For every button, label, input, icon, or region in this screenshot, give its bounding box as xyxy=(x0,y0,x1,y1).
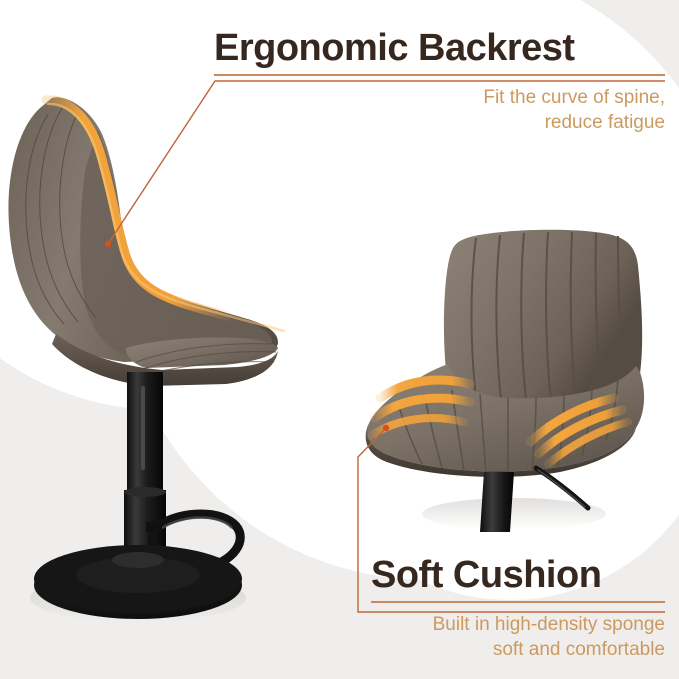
callout-title-backrest: Ergonomic Backrest xyxy=(214,29,665,67)
callout-subtitle-cushion-line2: soft and comfortable xyxy=(371,637,665,662)
callout-rule-backrest xyxy=(214,74,665,76)
callout-subtitle-backrest: Fit the curve of spine, reduce fatigue xyxy=(214,85,665,135)
product-feature-graphic: Ergonomic Backrest Fit the curve of spin… xyxy=(0,0,679,679)
callout-subtitle-cushion-line1: Built in high-density sponge xyxy=(371,612,665,637)
callout-ergonomic-backrest: Ergonomic Backrest Fit the curve of spin… xyxy=(214,29,665,135)
callout-soft-cushion: Soft Cushion Built in high-density spong… xyxy=(371,556,665,662)
leader-anchor-backrest xyxy=(105,241,111,247)
callout-rule-cushion xyxy=(371,601,665,603)
callout-subtitle-cushion: Built in high-density sponge soft and co… xyxy=(371,612,665,662)
callout-subtitle-backrest-line1: Fit the curve of spine, xyxy=(214,85,665,110)
callout-subtitle-backrest-line2: reduce fatigue xyxy=(214,110,665,135)
leader-anchor-cushion xyxy=(383,425,389,431)
callout-title-cushion: Soft Cushion xyxy=(371,556,665,594)
